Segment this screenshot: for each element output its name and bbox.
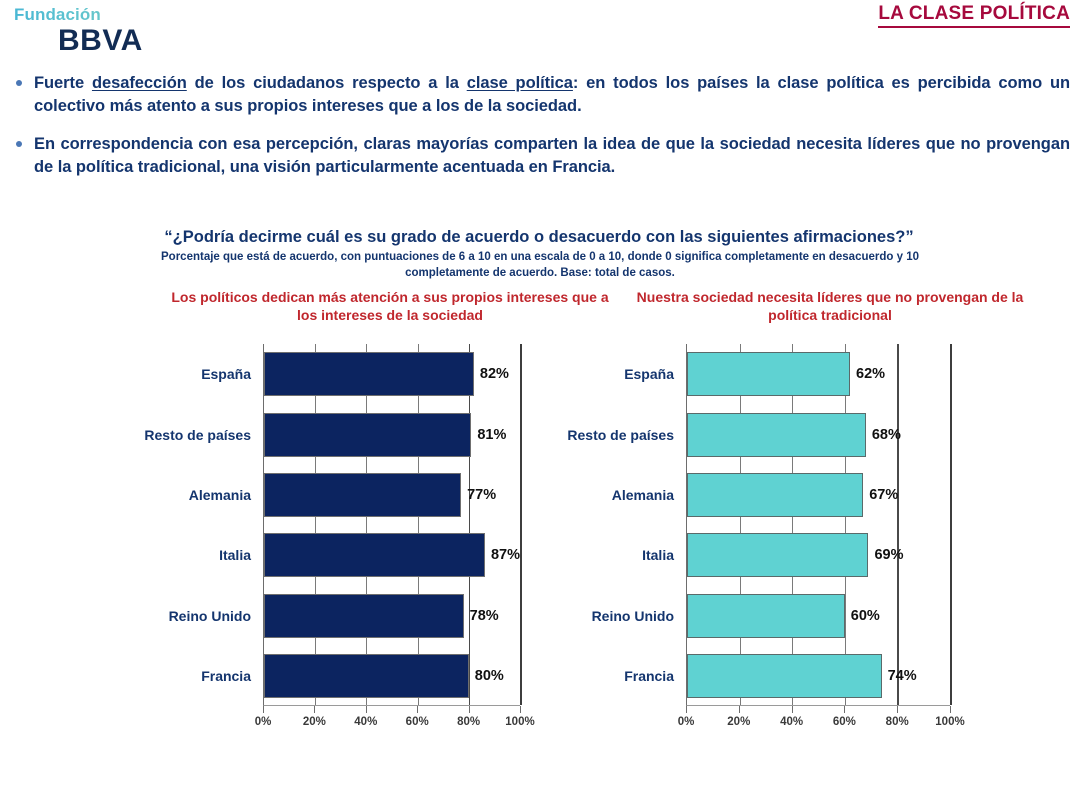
bar-alemania xyxy=(687,473,863,517)
bar-value-label: 68% xyxy=(872,427,901,443)
x-tick-label-60: 60% xyxy=(406,716,429,728)
x-tick-60 xyxy=(844,706,845,713)
x-tick-60 xyxy=(417,706,418,713)
gridline-100 xyxy=(520,344,522,705)
category-label-resto-de-países: Resto de países xyxy=(567,427,674,443)
x-tick-label-20: 20% xyxy=(303,716,326,728)
slide-page: Fundación BBVA LA CLASE POLÍTICA Fuerte … xyxy=(0,0,1078,786)
bar-reino-unido xyxy=(264,594,464,638)
bar-row: 69% xyxy=(687,533,950,577)
category-label-alemania: Alemania xyxy=(612,487,674,503)
bar-value-label: 77% xyxy=(467,487,496,503)
bar-value-label: 78% xyxy=(470,608,499,624)
bar-value-label: 62% xyxy=(856,366,885,382)
logo-fundacion-text: Fundación xyxy=(14,6,143,23)
bar-row: 77% xyxy=(264,473,520,517)
x-tick-label-40: 40% xyxy=(780,716,803,728)
chart-need-new-leaders: EspañaResto de paísesAlemaniaItaliaReino… xyxy=(560,344,980,748)
bar-alemania xyxy=(264,473,461,517)
bullet-item: En correspondencia con esa percepción, c… xyxy=(10,133,1070,180)
x-tick-80 xyxy=(469,706,470,713)
bar-value-label: 87% xyxy=(491,547,520,563)
category-labels-right: EspañaResto de paísesAlemaniaItaliaReino… xyxy=(560,344,686,706)
x-tick-label-0: 0% xyxy=(678,716,695,728)
bar-francia xyxy=(687,654,882,698)
bar-row: 62% xyxy=(687,352,950,396)
bar-reino-unido xyxy=(687,594,845,638)
bar-row: 82% xyxy=(264,352,520,396)
chart-question-title: “¿Podría decirme cuál es su grado de acu… xyxy=(0,228,1078,247)
logo-bbva-text: BBVA xyxy=(58,26,143,56)
bar-row: 87% xyxy=(264,533,520,577)
bar-italia xyxy=(687,533,868,577)
bar-value-label: 60% xyxy=(851,608,880,624)
x-tick-20 xyxy=(739,706,740,713)
bar-italia xyxy=(264,533,485,577)
bar-rows-left: 82%81%77%87%78%80% xyxy=(264,344,520,705)
bar-resto-de-países xyxy=(264,413,471,457)
category-label-francia: Francia xyxy=(624,668,674,684)
bullet-text-1: Fuerte desafección de los ciudadanos res… xyxy=(34,72,1070,119)
bar-row: 78% xyxy=(264,594,520,638)
x-tick-0 xyxy=(263,706,264,713)
x-tick-20 xyxy=(314,706,315,713)
plot-area-right: 62%68%67%69%60%74% xyxy=(686,344,950,706)
bar-row: 80% xyxy=(264,654,520,698)
bar-resto-de-países xyxy=(687,413,866,457)
category-labels-left: EspañaResto de paísesAlemaniaItaliaReino… xyxy=(130,344,263,706)
bar-value-label: 67% xyxy=(869,487,898,503)
x-axis-left: 0%20%40%60%80%100% xyxy=(130,706,550,748)
bar-row: 74% xyxy=(687,654,950,698)
bar-españa xyxy=(687,352,850,396)
x-tick-40 xyxy=(792,706,793,713)
x-axis-right: 0%20%40%60%80%100% xyxy=(560,706,980,748)
x-tick-label-80: 80% xyxy=(457,716,480,728)
gridline-100 xyxy=(950,344,952,705)
bar-value-label: 81% xyxy=(477,427,506,443)
fundacion-bbva-logo: Fundación BBVA xyxy=(14,6,143,56)
bar-row: 81% xyxy=(264,413,520,457)
page-title: LA CLASE POLÍTICA xyxy=(878,3,1070,28)
x-tick-40 xyxy=(366,706,367,713)
bar-row: 68% xyxy=(687,413,950,457)
category-label-españa: España xyxy=(624,366,674,382)
category-label-italia: Italia xyxy=(642,547,674,563)
chart-politicians-self-interest: EspañaResto de paísesAlemaniaItaliaReino… xyxy=(130,344,550,748)
x-tick-label-40: 40% xyxy=(354,716,377,728)
x-tick-100 xyxy=(520,706,521,713)
category-label-francia: Francia xyxy=(201,668,251,684)
x-tick-label-20: 20% xyxy=(727,716,750,728)
x-tick-label-0: 0% xyxy=(255,716,272,728)
panel-title-left: Los políticos dedican más atención a sus… xyxy=(160,288,620,324)
x-tick-100 xyxy=(950,706,951,713)
bar-value-label: 82% xyxy=(480,366,509,382)
bar-row: 60% xyxy=(687,594,950,638)
bar-value-label: 80% xyxy=(475,668,504,684)
category-label-resto-de-países: Resto de países xyxy=(144,427,251,443)
category-label-alemania: Alemania xyxy=(189,487,251,503)
plot-area-left: 82%81%77%87%78%80% xyxy=(263,344,520,706)
bullet-dot-icon xyxy=(16,141,22,147)
bar-españa xyxy=(264,352,474,396)
bar-row: 67% xyxy=(687,473,950,517)
x-tick-label-80: 80% xyxy=(886,716,909,728)
x-tick-label-60: 60% xyxy=(833,716,856,728)
bar-francia xyxy=(264,654,469,698)
chart-question-subtitle: Porcentaje que está de acuerdo, con punt… xyxy=(130,250,950,281)
bar-value-label: 74% xyxy=(888,668,917,684)
bullet-dot-icon xyxy=(16,80,22,86)
panel-title-right: Nuestra sociedad necesita líderes que no… xyxy=(620,288,1040,324)
bullet-text-2: En correspondencia con esa percepción, c… xyxy=(34,133,1070,180)
category-label-reino-unido: Reino Unido xyxy=(592,608,674,624)
x-tick-0 xyxy=(686,706,687,713)
bullet-item: Fuerte desafección de los ciudadanos res… xyxy=(10,72,1070,119)
x-tick-label-100: 100% xyxy=(935,716,964,728)
x-tick-80 xyxy=(897,706,898,713)
category-label-españa: España xyxy=(201,366,251,382)
x-tick-label-100: 100% xyxy=(505,716,534,728)
bullet-list: Fuerte desafección de los ciudadanos res… xyxy=(10,72,1070,194)
bar-rows-right: 62%68%67%69%60%74% xyxy=(687,344,950,705)
bar-value-label: 69% xyxy=(874,547,903,563)
category-label-reino-unido: Reino Unido xyxy=(169,608,251,624)
category-label-italia: Italia xyxy=(219,547,251,563)
